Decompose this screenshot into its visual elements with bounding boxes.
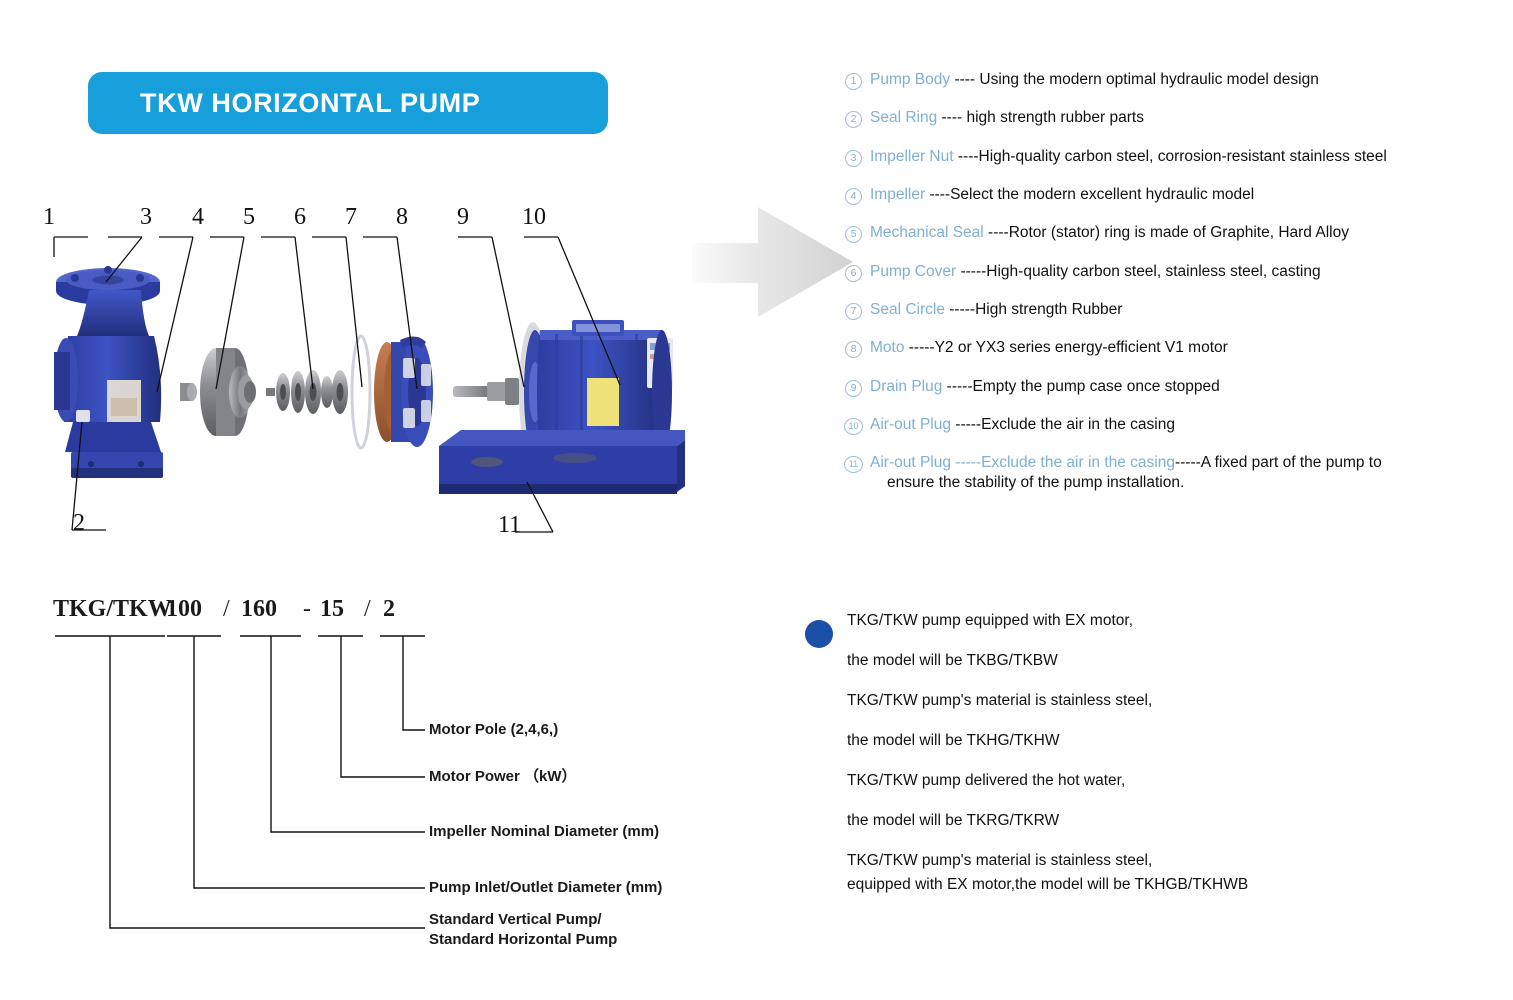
legend-dash-6: ----- <box>956 263 986 280</box>
legend-desc-7: High strength Rubber <box>975 301 1122 318</box>
legend-label-1: Pump Body <box>870 71 950 88</box>
legend-number-11: 11 <box>843 455 864 471</box>
legend-number-8: 8 <box>843 340 864 356</box>
legend-dash-10: ----- <box>951 416 981 433</box>
legend-item-2: 2 Seal Ring ---- high strength rubber pa… <box>843 108 1503 128</box>
legend-text-7: Seal Circle -----High strength Rubber <box>870 300 1503 320</box>
note-group-1: TKG/TKW pump equipped with EX motor, the… <box>847 612 1445 670</box>
notes-lines: TKG/TKW pump equipped with EX motor, the… <box>847 612 1445 894</box>
legend-dash-4: ---- <box>925 186 950 203</box>
legend-text-11: Air-out Plug -----Exclude the air in the… <box>870 453 1503 493</box>
breakdown-bracket-lines <box>35 590 735 980</box>
part-seal-circle <box>352 336 370 448</box>
legend-label-4: Impeller <box>870 186 925 203</box>
legend-label-6: Pump Cover <box>870 263 956 280</box>
legend-number-10: 10 <box>843 417 864 433</box>
callout-5: 5 <box>243 204 255 231</box>
callout-8: 8 <box>396 204 408 231</box>
legend-number-3: 3 <box>843 149 864 165</box>
note-2-line-2: the model will be TKHG/TKHW <box>847 732 1445 750</box>
part-pump-cover <box>374 336 433 447</box>
legend-desc-8: Y2 or YX3 series energy-efficient V1 mot… <box>935 339 1228 356</box>
breakdown-label-impeller-dia: Impeller Nominal Diameter (mm) <box>429 822 659 842</box>
part-impeller <box>200 348 256 436</box>
breakdown-label-motor-power: Motor Power （kW） <box>429 767 577 787</box>
legend-text-6: Pump Cover -----High-quality carbon stee… <box>870 262 1503 282</box>
model-variant-notes: TKG/TKW pump equipped with EX motor, the… <box>805 612 1445 916</box>
callout-11: 11 <box>498 512 521 539</box>
note-1-line-1: TKG/TKW pump equipped with EX motor, <box>847 612 1445 630</box>
legend-text-10: Air-out Plug -----Exclude the air in the… <box>870 415 1503 435</box>
legend-number-6: 6 <box>843 264 864 280</box>
legend-item-6: 6 Pump Cover -----High-quality carbon st… <box>843 262 1503 282</box>
legend-label-2: Seal Ring <box>870 109 937 126</box>
legend-desc-10: Exclude the air in the casing <box>981 416 1175 433</box>
legend-label-9: Drain Plug <box>870 378 942 395</box>
callout-2: 2 <box>73 510 85 537</box>
legend-text-4: Impeller ----Select the modern excellent… <box>870 185 1503 205</box>
breakdown-label-pump-type: Standard Vertical Pump/ Standard Horizon… <box>429 910 617 951</box>
legend-item-8: 8 Moto -----Y2 or YX3 series energy-effi… <box>843 338 1503 358</box>
legend-text-8: Moto -----Y2 or YX3 series energy-effici… <box>870 338 1503 358</box>
part-pump-body <box>54 266 163 478</box>
note-3-line-2: the model will be TKRG/TKRW <box>847 812 1445 830</box>
note-group-4: TKG/TKW pump's material is stainless ste… <box>847 852 1445 894</box>
legend-item-4: 4 Impeller ----Select the modern excelle… <box>843 185 1503 205</box>
legend-desc-11: -----A fixed part of the pump to <box>1175 454 1382 471</box>
part-impeller-nut <box>180 383 197 401</box>
legend-item-5: 5 Mechanical Seal ----Rotor (stator) rin… <box>843 223 1503 243</box>
legend-desc-3: High-quality carbon steel, corrosion-res… <box>979 148 1387 165</box>
callout-3: 3 <box>140 204 152 231</box>
legend-text-5: Mechanical Seal ----Rotor (stator) ring … <box>870 223 1503 243</box>
legend-text-2: Seal Ring ---- high strength rubber part… <box>870 108 1503 128</box>
legend-text-9: Drain Plug -----Empty the pump case once… <box>870 377 1503 397</box>
note-1-line-2: the model will be TKBG/TKBW <box>847 652 1445 670</box>
breakdown-label-pump-type-line1: Standard Vertical Pump/ <box>429 911 602 928</box>
legend-number-9: 9 <box>843 379 864 395</box>
callout-7: 7 <box>345 204 357 231</box>
legend-number-5: 5 <box>843 225 864 241</box>
part-mechanical-seal <box>266 370 348 414</box>
legend-dash-9: ----- <box>942 378 972 395</box>
legend-dash-1: ---- <box>950 71 979 88</box>
poster-canvas: TKW HORIZONTAL PUMP <box>0 0 1513 1000</box>
legend-dash-11: ----- <box>951 454 981 471</box>
page-title: TKW HORIZONTAL PUMP <box>140 88 480 119</box>
legend-label-7: Seal Circle <box>870 301 945 318</box>
legend-desc-9: Empty the pump case once stopped <box>973 378 1220 395</box>
pump-illustration <box>35 212 685 572</box>
breakdown-label-inlet-dia: Pump Inlet/Outlet Diameter (mm) <box>429 878 662 898</box>
callout-10: 10 <box>522 204 546 231</box>
model-code-breakdown: TKG/TKW 100 / 160 - 15 / 2 <box>35 590 735 980</box>
page-title-banner: TKW HORIZONTAL PUMP <box>88 72 608 134</box>
legend-dash-2: ---- <box>937 109 966 126</box>
legend-label-11: Air-out Plug <box>870 454 951 471</box>
note-2-line-1: TKG/TKW pump's material is stainless ste… <box>847 692 1445 710</box>
legend-item-7: 7 Seal Circle -----High strength Rubber <box>843 300 1503 320</box>
legend-item-9: 9 Drain Plug -----Empty the pump case on… <box>843 377 1503 397</box>
legend-desc-5: Rotor (stator) ring is made of Graphite,… <box>1009 224 1349 241</box>
bullet-dot-icon <box>805 620 833 648</box>
legend-desc-6: High-quality carbon steel, stainless ste… <box>986 263 1320 280</box>
legend-dash-7: ----- <box>945 301 975 318</box>
legend-text-1: Pump Body ---- Using the modern optimal … <box>870 70 1503 90</box>
legend-label-5: Mechanical Seal <box>870 224 984 241</box>
part-motor <box>439 320 685 494</box>
breakdown-label-motor-pole: Motor Pole (2,4,6,) <box>429 720 558 740</box>
legend-desc-blue-11: Exclude the air in the casing <box>981 454 1175 471</box>
legend-desc-4: Select the modern excellent hydraulic mo… <box>950 186 1254 203</box>
note-4-line-1: TKG/TKW pump's material is stainless ste… <box>847 852 1445 870</box>
legend-number-4: 4 <box>843 187 864 203</box>
legend-label-10: Air-out Plug <box>870 416 951 433</box>
legend-number-1: 1 <box>843 72 864 88</box>
legend-desc-wrap-11: ensure the stability of the pump install… <box>870 473 1503 493</box>
note-group-3: TKG/TKW pump delivered the hot water, th… <box>847 772 1445 830</box>
callout-1: 1 <box>43 204 55 231</box>
exploded-pump-diagram: 1 3 4 5 6 7 8 9 10 2 11 <box>35 212 685 572</box>
legend-item-3: 3 Impeller Nut ----High-quality carbon s… <box>843 147 1503 167</box>
right-arrow-icon <box>690 205 855 320</box>
note-3-line-1: TKG/TKW pump delivered the hot water, <box>847 772 1445 790</box>
legend-text-3: Impeller Nut ----High-quality carbon ste… <box>870 147 1503 167</box>
note-group-2: TKG/TKW pump's material is stainless ste… <box>847 692 1445 750</box>
callout-4: 4 <box>192 204 204 231</box>
legend-label-3: Impeller Nut <box>870 148 954 165</box>
callout-9: 9 <box>457 204 469 231</box>
legend-dash-3: ---- <box>954 148 979 165</box>
breakdown-label-pump-type-line2: Standard Horizontal Pump <box>429 931 617 948</box>
legend-label-8: Moto <box>870 339 904 356</box>
legend-item-1: 1 Pump Body ---- Using the modern optima… <box>843 70 1503 90</box>
note-4-line-2: equipped with EX motor,the model will be… <box>847 876 1445 894</box>
legend-number-7: 7 <box>843 302 864 318</box>
legend-desc-1: Using the modern optimal hydraulic model… <box>979 71 1318 88</box>
callout-6: 6 <box>294 204 306 231</box>
parts-legend-list: 1 Pump Body ---- Using the modern optima… <box>843 70 1503 511</box>
legend-item-11: 11 Air-out Plug -----Exclude the air in … <box>843 453 1503 493</box>
legend-desc-2: high strength rubber parts <box>966 109 1144 126</box>
legend-dash-8: ----- <box>904 339 934 356</box>
legend-dash-5: ---- <box>984 224 1009 241</box>
legend-item-10: 10 Air-out Plug -----Exclude the air in … <box>843 415 1503 435</box>
legend-number-2: 2 <box>843 110 864 126</box>
